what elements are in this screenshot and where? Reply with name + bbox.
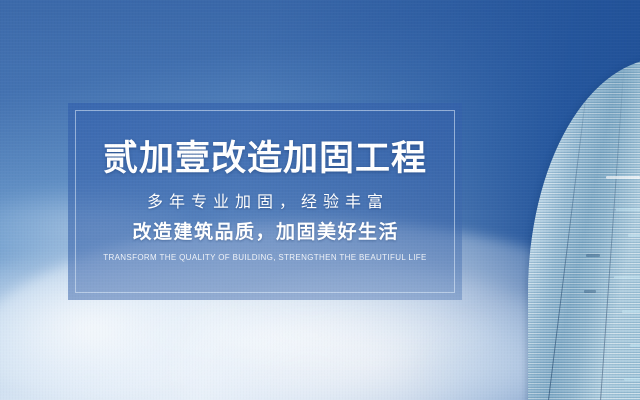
skyscraper-body [528,58,640,400]
english-tagline: TRANSFORM THE QUALITY OF BUILDING, STREN… [103,253,426,263]
promotional-banner: 贰加壹改造加固工程 多年专业加固，经验丰富 改造建筑品质，加固美好生活 TRAN… [0,0,640,400]
subtitle-text: 多年专业加固，经验丰富 [141,193,389,212]
slogan-text: 改造建筑品质，加固美好生活 [131,222,399,245]
skyscraper-photo [480,0,640,400]
page-title: 贰加壹改造加固工程 [103,140,427,179]
headline-panel: 贰加壹改造加固工程 多年专业加固，经验丰富 改造建筑品质，加固美好生活 TRAN… [68,103,462,300]
skyscraper-glass-reflection [528,58,640,400]
headline-panel-content: 贰加壹改造加固工程 多年专业加固，经验丰富 改造建筑品质，加固美好生活 TRAN… [68,103,462,300]
